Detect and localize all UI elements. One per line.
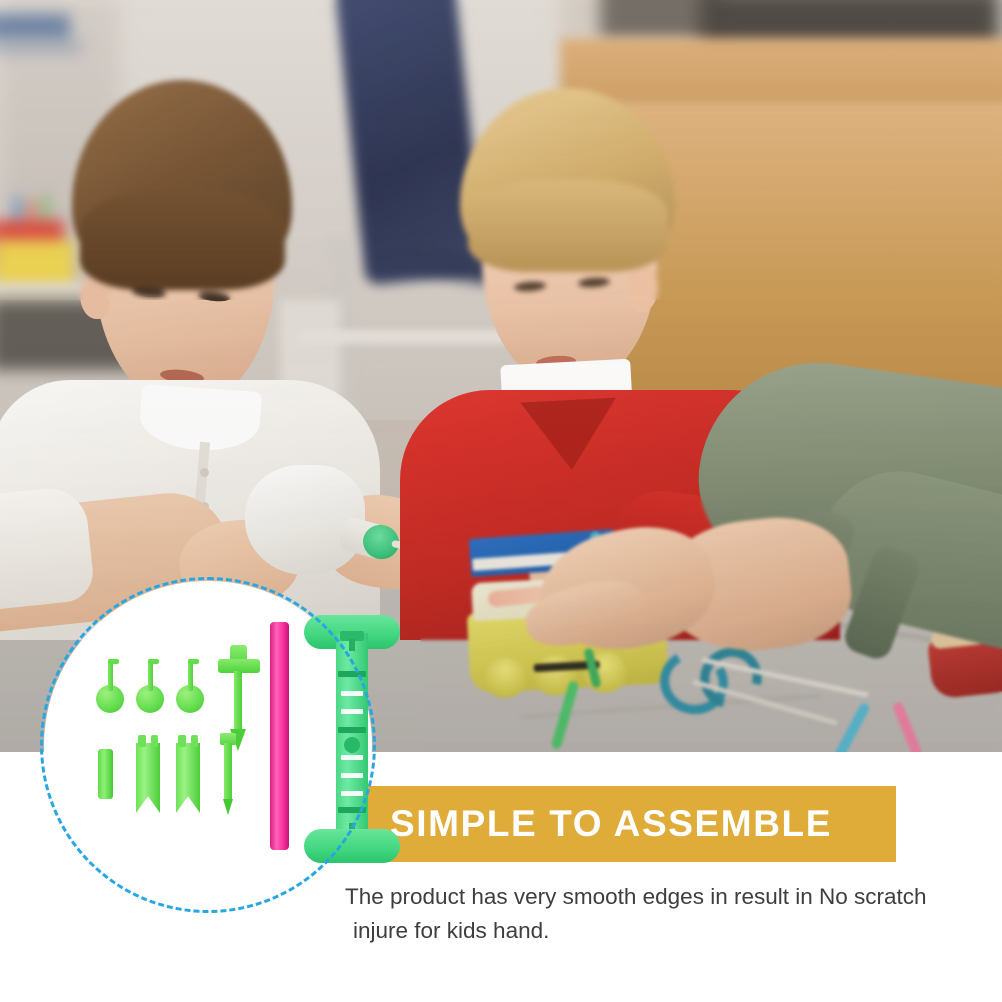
boy1-button-top (200, 468, 209, 477)
boy2-fringe (468, 180, 668, 272)
monitor (600, 0, 720, 40)
inset-dashed-border (40, 577, 376, 913)
wall-trim (0, 14, 70, 40)
adult-green-sweater (620, 370, 1002, 700)
carton-cup (483, 657, 527, 699)
product-marketing-image: SIMPLE TO ASSEMBLE The product has very … (0, 0, 1002, 1002)
product-inset-circle (40, 577, 376, 913)
i-beam-screw-pin-top (349, 639, 355, 651)
boy2-ear (628, 266, 658, 312)
description-text: The product has very smooth edges in res… (345, 880, 985, 948)
headline-banner: SIMPLE TO ASSEMBLE (318, 786, 896, 862)
boy1-fringe (80, 190, 285, 290)
banner-title: SIMPLE TO ASSEMBLE (390, 803, 832, 845)
description-line-2: injure for kids hand. (345, 914, 985, 948)
description-line-1: The product has very smooth edges in res… (345, 880, 985, 914)
wall-trim-secondary (0, 40, 82, 54)
milk-bottle (245, 465, 395, 585)
